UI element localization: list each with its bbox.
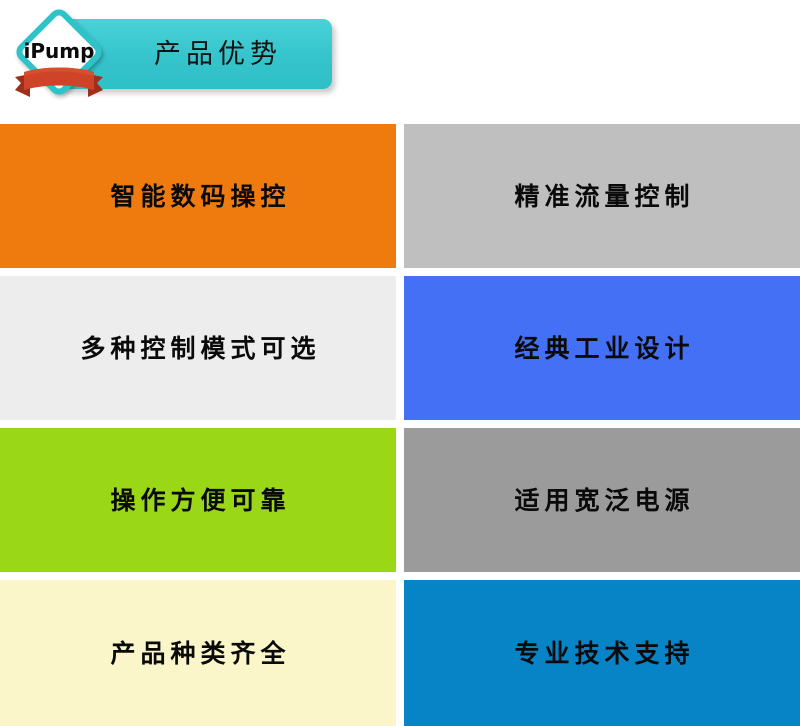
feature-grid: 智能数码操控 精准流量控制 多种控制模式可选 经典工业设计 操作方便可靠 适用宽…: [0, 124, 800, 726]
feature-label: 智能数码操控: [105, 184, 290, 209]
feature-label: 专业技术支持: [509, 641, 694, 666]
feature-cell-5[interactable]: 操作方便可靠: [0, 428, 396, 572]
feature-cell-6[interactable]: 适用宽泛电源: [404, 428, 800, 572]
feature-label: 精准流量控制: [509, 184, 694, 209]
page-header: 产品优势 iPump: [0, 0, 800, 124]
feature-cell-7[interactable]: 产品种类齐全: [0, 580, 396, 726]
feature-label: 产品种类齐全: [105, 641, 290, 666]
brand-wordmark: iPump: [24, 39, 95, 63]
feature-label: 操作方便可靠: [105, 488, 290, 513]
feature-label: 经典工业设计: [509, 336, 694, 361]
feature-cell-3[interactable]: 多种控制模式可选: [0, 276, 396, 420]
feature-cell-8[interactable]: 专业技术支持: [404, 580, 800, 726]
ipump-logo-badge[interactable]: iPump: [7, 6, 111, 110]
feature-label: 适用宽泛电源: [509, 488, 694, 513]
feature-cell-1[interactable]: 智能数码操控: [0, 124, 396, 268]
feature-label: 多种控制模式可选: [75, 336, 320, 361]
feature-cell-4[interactable]: 经典工业设计: [404, 276, 800, 420]
feature-cell-2[interactable]: 精准流量控制: [404, 124, 800, 268]
